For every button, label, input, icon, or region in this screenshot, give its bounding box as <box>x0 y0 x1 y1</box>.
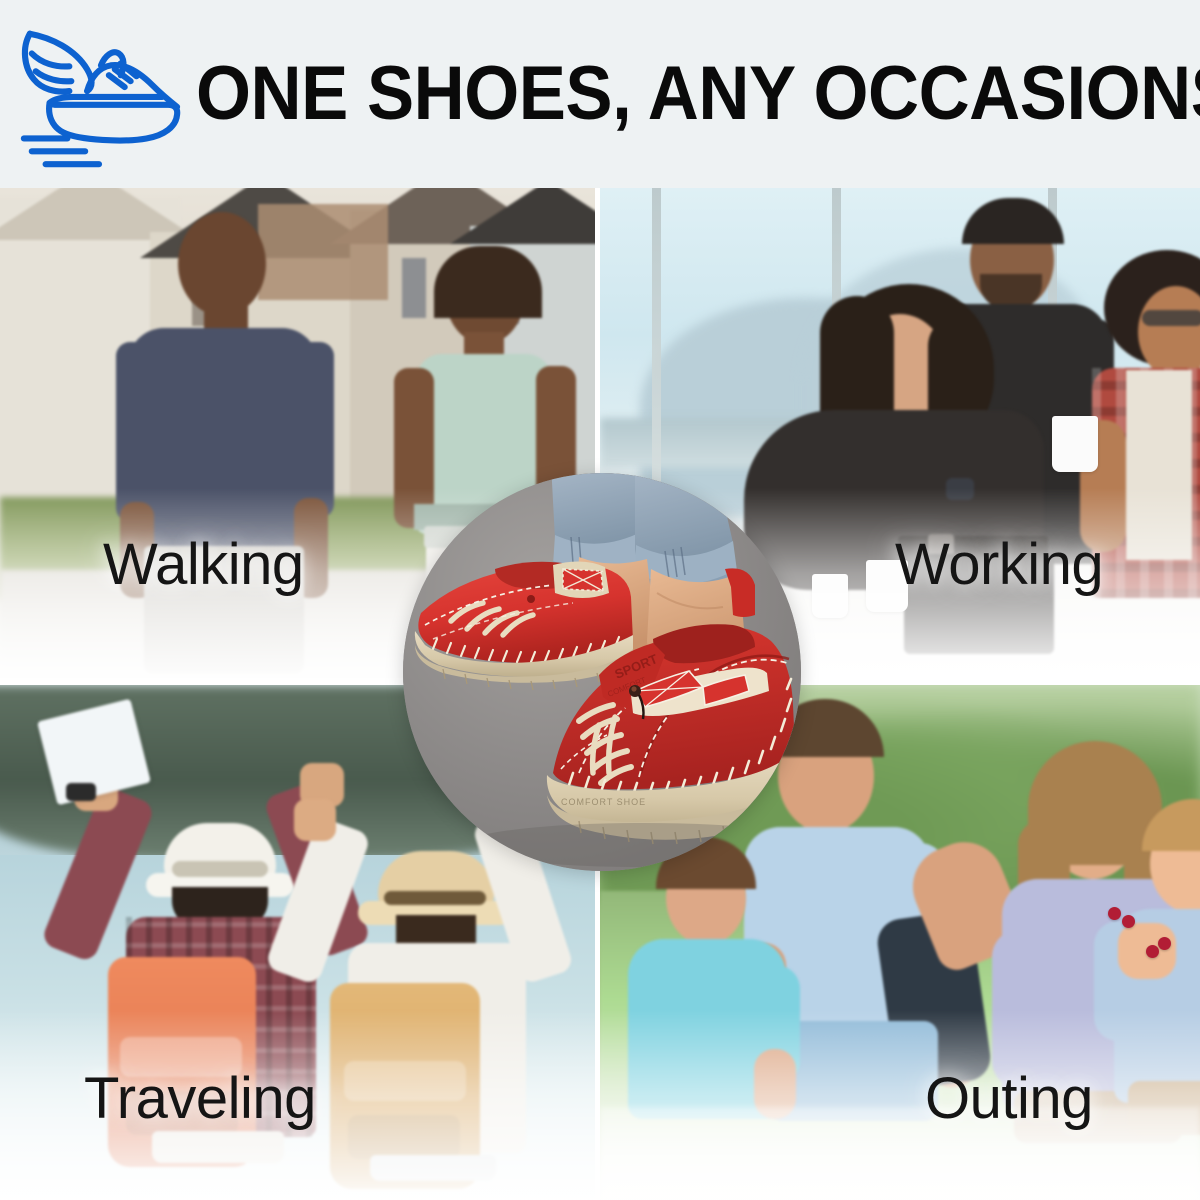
winged-shoe-logo-icon <box>14 19 182 169</box>
red-shoes-illustration: SPORT COMFORT <box>403 473 801 871</box>
product-poster: ONE SHOES, ANY OCCASIONS <box>0 0 1200 1200</box>
cherry-icon <box>1108 907 1121 920</box>
occasion-label-traveling: Traveling <box>84 1070 316 1128</box>
page-title: ONE SHOES, ANY OCCASIONS <box>196 56 1200 132</box>
occasion-label-walking: Walking <box>103 536 304 594</box>
occasion-label-working: Working <box>895 536 1103 594</box>
shoe-product-circle[interactable]: SPORT COMFORT <box>403 473 801 871</box>
cherry-icon <box>1146 945 1159 958</box>
cherry-icon <box>1122 915 1135 928</box>
poster-header: ONE SHOES, ANY OCCASIONS <box>0 0 1200 188</box>
cherry-icon <box>1158 937 1171 950</box>
occasion-label-outing: Outing <box>925 1070 1093 1128</box>
coffee-mug <box>1052 416 1098 472</box>
svg-text:COMFORT SHOE: COMFORT SHOE <box>561 797 646 807</box>
